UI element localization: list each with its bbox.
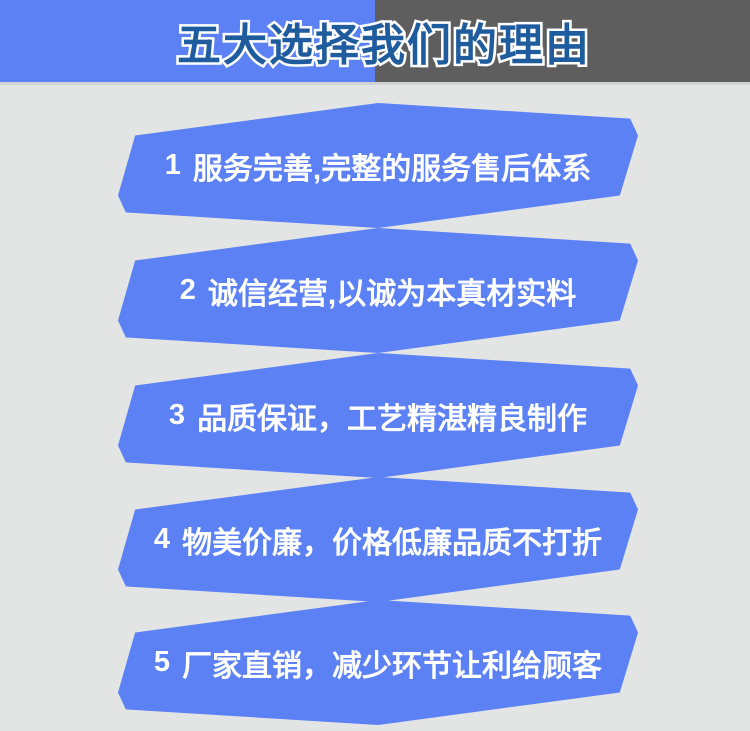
banner-hexagon-shape — [118, 600, 638, 725]
page-header: 五大选择我们的理由 — [0, 0, 750, 82]
list-item[interactable]: 1 服务完善,完整的服务售后体系 — [0, 103, 750, 228]
banner-hexagon-shape — [118, 353, 638, 478]
banner-hexagon-shape — [118, 228, 638, 353]
list-item[interactable]: 3 品质保证，工艺精湛精良制作 — [0, 353, 750, 478]
page-title: 五大选择我们的理由 — [0, 0, 750, 82]
list-item[interactable]: 5 厂家直销，减少环节让利给顾客 — [0, 600, 750, 725]
banner-hexagon-shape — [118, 477, 638, 602]
banner-hexagon-shape — [118, 103, 638, 228]
list-item[interactable]: 2 诚信经营,以诚为本真材实料 — [0, 228, 750, 353]
list-item[interactable]: 4 物美价廉，价格低廉品质不打折 — [0, 477, 750, 602]
reasons-list: 1 服务完善,完整的服务售后体系 2 诚信经营,以诚为本真材实料 3 品质保证，… — [0, 85, 750, 731]
